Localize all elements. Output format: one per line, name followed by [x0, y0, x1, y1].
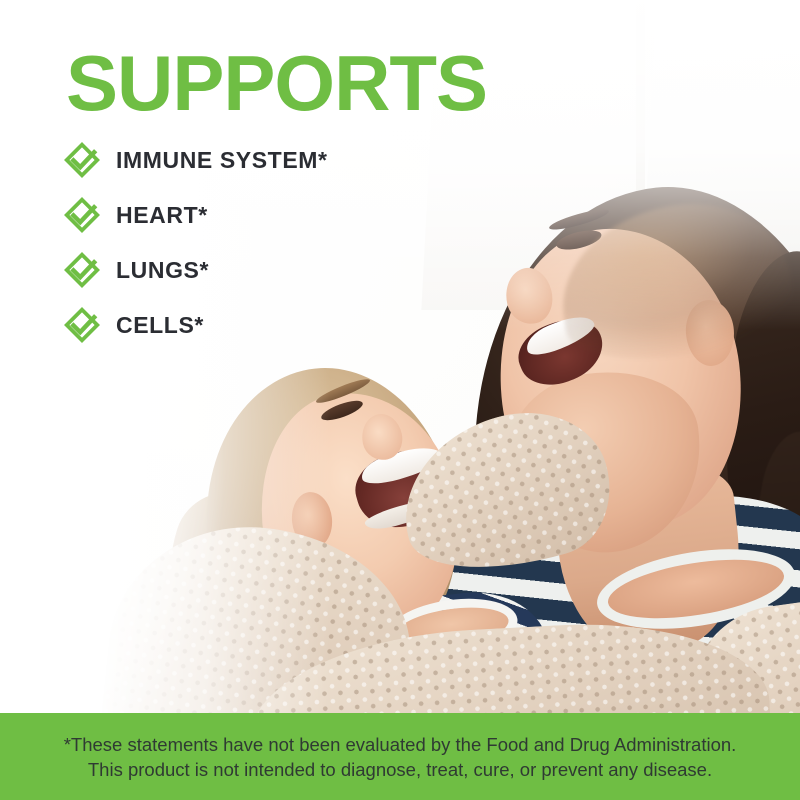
fda-disclaimer-band: *These statements have not been evaluate… — [0, 713, 800, 800]
photo-highlight-soft — [0, 300, 250, 720]
supports-checklist: IMMUNE SYSTEM* HEART* LUNGS* CELLS* — [64, 140, 328, 360]
list-item: CELLS* — [64, 305, 328, 345]
disclaimer-line-2: This product is not intended to diagnose… — [88, 757, 712, 782]
check-diamond-icon — [64, 252, 100, 288]
list-item: HEART* — [64, 195, 328, 235]
list-item-label: LUNGS* — [116, 257, 209, 284]
disclaimer-line-1: *These statements have not been evaluate… — [64, 732, 737, 757]
check-diamond-icon — [64, 197, 100, 233]
list-item-label: IMMUNE SYSTEM* — [116, 147, 328, 174]
product-marketing-image: SUPPORTS IMMUNE SYSTEM* HEART* LUNGS* — [0, 0, 800, 800]
check-diamond-icon — [64, 142, 100, 178]
page-title: SUPPORTS — [66, 44, 487, 122]
list-item-label: CELLS* — [116, 312, 204, 339]
list-item-label: HEART* — [116, 202, 208, 229]
list-item: LUNGS* — [64, 250, 328, 290]
check-diamond-icon — [64, 307, 100, 343]
list-item: IMMUNE SYSTEM* — [64, 140, 328, 180]
